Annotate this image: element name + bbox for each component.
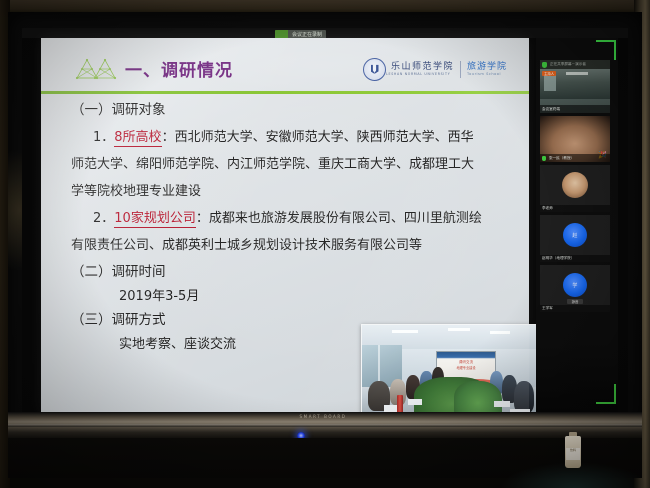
item-2-colon: ： <box>196 211 209 226</box>
tile-video-feed: 🎉 张一民（教授） <box>540 116 610 162</box>
bottle-body: 饮料 <box>565 436 581 468</box>
slide-line-item-2-wrap: 有限责任公司、成都英利士城乡规划设计技术服务有限公司等 <box>71 237 422 254</box>
slide-line-section-1: （一）调研对象 <box>71 102 166 119</box>
avatar: 赵 <box>563 223 587 247</box>
item-2-rest: 成都来也旅游发展股份有限公司、四川里航测绘 <box>209 211 482 226</box>
share-region-corner-marker <box>596 384 616 404</box>
lattice-decoration-icon <box>73 52 119 88</box>
participant-tile-initial-1[interactable]: 赵 赵明华（地理学院） <box>540 215 610 262</box>
participant-name: 会议室终端 <box>542 107 560 112</box>
university-crest-icon <box>363 58 386 81</box>
recording-notification-label: 会议正在录制 <box>288 31 326 38</box>
slide-line-section-3-value: 实地考察、座谈交流 <box>119 336 236 353</box>
slide-line-item-1-wrap-a: 师范大学、绵阳师范学院、内江师范学院、重庆工商大学、成都理工大 <box>71 156 474 173</box>
participant-tile-initial-2[interactable]: 学 静音 王学军 <box>540 265 610 312</box>
panel-brand-label: SMART BOARD <box>268 414 378 419</box>
university-name-en: LESHAN NORMAL UNIVERSITY <box>386 72 454 76</box>
tray-highlight <box>8 424 642 427</box>
item-1-colon: ： <box>162 130 175 145</box>
item-1-highlight: 8所高校 <box>114 130 161 147</box>
avatar: 学 <box>563 273 587 297</box>
participant-tile-face[interactable]: 🎉 张一民（教授） <box>540 116 610 162</box>
video-conference-sidebar[interactable]: 正在共享屏幕－演示者 主持人 会议室终端 🎉 <box>536 38 618 412</box>
item-2-number: 2． <box>93 211 114 226</box>
share-region-corner-marker <box>596 40 616 60</box>
avatar <box>562 172 588 198</box>
participant-tile-room[interactable]: 正在共享屏幕－演示者 主持人 会议室终端 <box>540 60 610 113</box>
slide-header-rule <box>41 91 529 94</box>
item-1-number: 1． <box>93 130 114 145</box>
tile-video-feed: 主持人 会议室终端 <box>540 69 610 113</box>
slide-line-section-2-value: 2019年3-5月 <box>119 288 199 305</box>
photo-person <box>514 381 534 412</box>
tile-avatar-area: 学 静音 <box>540 265 610 305</box>
tile-name-bar: 张一民（教授） <box>540 154 610 162</box>
item-2-highlight: 10家规划公司 <box>114 211 196 228</box>
feed-ceiling-light <box>566 72 588 75</box>
photo-ceiling-light <box>448 328 470 331</box>
slide-header: 一、调研情况 乐山师范学院 LESHAN NORMAL UNIVERSITY 旅… <box>41 38 529 96</box>
department-name-cn: 旅游学院 <box>467 62 507 72</box>
participant-name: 张一民（教授） <box>549 156 574 161</box>
logo-divider <box>460 61 461 78</box>
photo-screen-title-line2: 地理专业建设 <box>437 365 495 370</box>
tile-name-bar: 会议室终端 <box>540 105 610 113</box>
slide-line-item-1-wrap-b: 学等院校地理专业建设 <box>71 183 201 200</box>
display-screen[interactable]: 会议正在录制 <box>22 28 628 412</box>
screen-top-strip: 会议正在录制 <box>22 28 628 38</box>
slide-line-section-2: （二）调研时间 <box>71 264 166 281</box>
photo-table-plants <box>454 381 502 412</box>
item-1-rest: 西北师范大学、安徽师范大学、陕西师范大学、西华 <box>175 130 474 145</box>
university-name-cn: 乐山师范学院 <box>391 62 454 72</box>
photo-papers <box>408 399 422 405</box>
tile-avatar-area <box>540 165 610 205</box>
slide-title: 一、调研情况 <box>125 56 233 81</box>
participant-name: 赵明华（地理学院） <box>540 255 610 262</box>
photo-screen-title-line1: 调研交流 <box>437 359 495 364</box>
photo-papers <box>494 401 510 407</box>
photo-thermos <box>397 395 403 412</box>
slide-body: （一）调研对象 1．8所高校：西北师范大学、安徽师范大学、陕西师范大学、西华 师… <box>41 96 529 412</box>
photo-ceiling-light <box>490 331 510 334</box>
tile-status-bar: 正在共享屏幕－演示者 <box>540 60 610 69</box>
participant-list[interactable]: 正在共享屏幕－演示者 主持人 会议室终端 🎉 <box>540 60 610 315</box>
slide-line-item-1: 1．8所高校：西北师范大学、安徽师范大学、陕西师范大学、西华 <box>93 129 474 146</box>
department-name-en: Tourism School <box>467 72 507 76</box>
university-logo: 乐山师范学院 LESHAN NORMAL UNIVERSITY 旅游学院 Tou… <box>363 54 513 84</box>
powerpoint-slide[interactable]: 一、调研情况 乐山师范学院 LESHAN NORMAL UNIVERSITY 旅… <box>41 38 529 412</box>
tile-avatar-area: 赵 <box>540 215 610 255</box>
slide-line-item-2: 2．10家规划公司：成都来也旅游发展股份有限公司、四川里航测绘 <box>93 210 482 227</box>
bottle-label: 饮料 <box>566 448 580 460</box>
participant-name: 王学军 <box>540 305 610 312</box>
bottle-object: 饮料 <box>565 432 581 468</box>
microphone-icon <box>542 156 546 161</box>
sharing-status-label: 正在共享屏幕－演示者 <box>550 62 586 67</box>
muted-indicator: 静音 <box>567 299 583 304</box>
feed-window <box>544 75 556 91</box>
screenshot-root: 会议正在录制 <box>0 0 650 488</box>
slide-embedded-photo[interactable]: 调研交流 地理专业建设 <box>361 324 541 412</box>
participant-tile-avatar[interactable]: 李老师 <box>540 165 610 212</box>
participant-name: 李老师 <box>540 205 610 212</box>
slide-line-section-3: （三）调研方式 <box>71 312 166 329</box>
photo-ceiling-light <box>392 330 418 333</box>
microphone-icon <box>542 62 547 68</box>
host-badge: 主持人 <box>542 71 556 76</box>
